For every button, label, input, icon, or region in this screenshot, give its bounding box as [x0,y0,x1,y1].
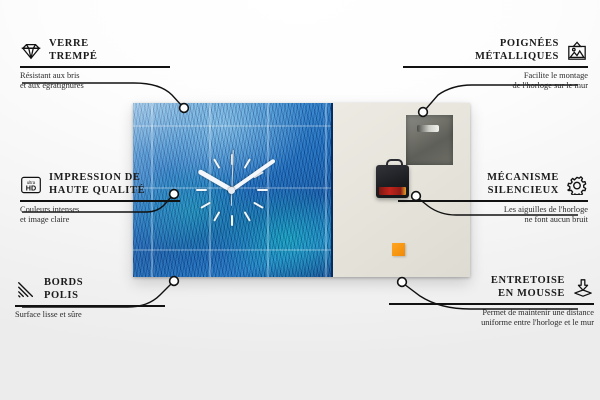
arrow-down-pad-icon [572,278,594,298]
callout-subtitle: Les aiguilles de l'horlogene font aucun … [398,205,588,226]
clock-hour-hand [198,169,233,192]
clock-minute-hand [231,159,276,192]
callout-divider [20,66,170,68]
callout-impression-haute-qualite: ultra HD IMPRESSION DEHAUTE QUALITÉ Coul… [20,172,180,226]
callout-subtitle: Permet de maintenir une distanceuniforme… [389,308,594,329]
callout-title: MÉCANISMESILENCIEUX [487,172,559,197]
callout-header: MÉCANISMESILENCIEUX [398,172,588,197]
callout-subtitle: Résistant aux briset aux égratignures [20,71,170,92]
clock-second-hand [231,150,234,206]
callout-poignees-metalliques: POIGNÉESMÉTALLIQUES Facilite le montaged… [403,38,588,92]
hour-marker [196,189,268,191]
callout-verre-trempe: VERRETREMPÉ Résistant aux briset aux égr… [20,38,170,92]
metal-hanger-plate [406,115,453,165]
hour-marker [200,171,263,209]
picture-frame-hanger-icon [566,41,588,61]
callout-title: IMPRESSION DEHAUTE QUALITÉ [49,172,145,197]
callout-bords-polis: BORDSPOLIS Surface lisse et sûre [15,277,165,320]
callout-title: POIGNÉESMÉTALLIQUES [475,38,559,63]
ultra-hd-icon: ultra HD [20,175,42,195]
hour-marker [213,158,251,221]
hanger-slot [417,125,439,132]
hour-marker [213,158,251,221]
gear-icon [566,175,588,195]
callout-header: BORDSPOLIS [15,277,165,302]
diamond-icon [20,41,42,61]
callout-subtitle: Facilite le montagede l'horloge sur le m… [403,71,588,92]
callout-divider [389,303,594,305]
hour-marker [231,154,233,226]
callout-title: ENTRETOISEEN MOUSSE [491,275,565,300]
foam-spacer [392,243,405,256]
callout-title: BORDSPOLIS [44,277,83,302]
hour-marker [200,171,263,209]
callout-entretoise-en-mousse: ENTRETOISEEN MOUSSE Permet de maintenir … [389,275,594,329]
callout-title: VERRETREMPÉ [49,38,98,63]
hour-marker [213,158,251,221]
hd-label: HD [26,183,36,192]
callout-subtitle: Surface lisse et sûre [15,310,165,321]
hour-marker [200,171,263,209]
callout-divider [398,200,588,202]
callout-divider [403,66,588,68]
callout-header: ENTRETOISEEN MOUSSE [389,275,594,300]
callout-header: POIGNÉESMÉTALLIQUES [403,38,588,63]
callout-header: ultra HD IMPRESSION DEHAUTE QUALITÉ [20,172,180,197]
mechanism-hanging-loop [386,159,403,169]
hour-marker [200,171,263,209]
clock-hand-cap [228,187,235,194]
polished-edge-icon [15,280,37,300]
hour-marker [231,154,233,226]
callout-subtitle: Couleurs intenseset image claire [20,205,180,226]
hour-marker [196,189,268,191]
callout-mecanisme-silencieux: MÉCANISMESILENCIEUX Les aiguilles de l'h… [398,172,588,226]
hour-marker [213,158,251,221]
callout-header: VERRETREMPÉ [20,38,170,63]
product-infographic: VERRETREMPÉ Résistant aux briset aux égr… [0,0,600,400]
callout-divider [20,200,180,202]
callout-divider [15,305,165,307]
